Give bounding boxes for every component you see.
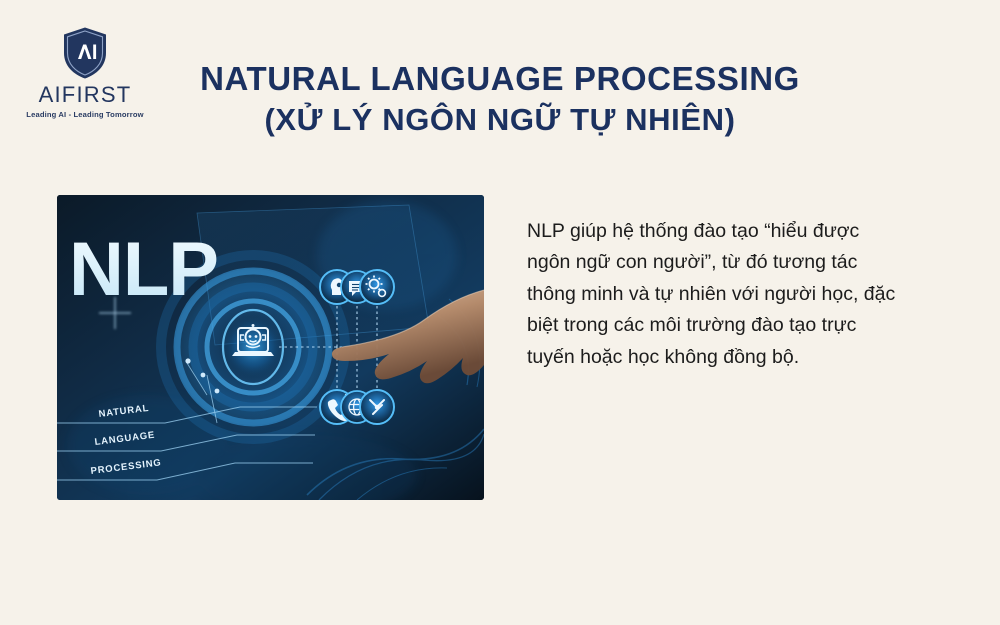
nlp-illustration-canvas: NLP NATURAL LANGUAGE PROCESSING <box>57 195 484 500</box>
shield-ai-icon <box>62 26 108 80</box>
nlp-concept-illustration: NLP NATURAL LANGUAGE PROCESSING <box>57 195 484 500</box>
logo-tagline: Leading AI - Leading Tomorrow <box>22 111 148 119</box>
page-title: NATURAL LANGUAGE PROCESSING (XỬ LÝ NGÔN … <box>170 58 830 140</box>
gear-settings-icon <box>360 270 394 304</box>
tools-wrench-icon <box>360 390 394 424</box>
figure-headline: NLP <box>69 227 218 312</box>
title-line-secondary: (XỬ LÝ NGÔN NGỮ TỰ NHIÊN) <box>170 100 830 140</box>
logo-wordmark: AIFIRST <box>22 84 148 106</box>
satellite-icon-group-top <box>320 270 394 304</box>
brand-logo: AIFIRST Leading AI - Leading Tomorrow <box>22 26 148 119</box>
satellite-icon-group-bottom <box>320 390 394 424</box>
body-paragraph: NLP giúp hệ thống đào tạo “hiểu được ngô… <box>527 216 897 374</box>
title-line-primary: NATURAL LANGUAGE PROCESSING <box>170 58 830 100</box>
